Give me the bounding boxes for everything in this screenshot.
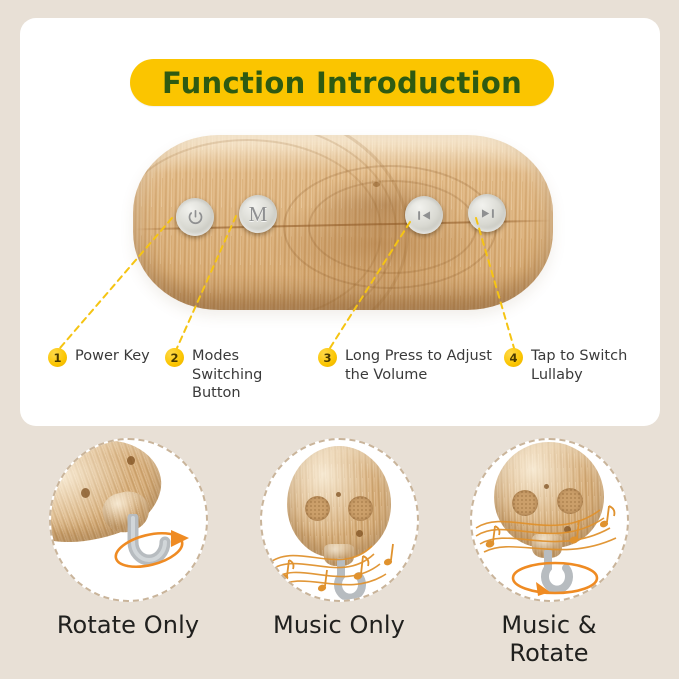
feature-caption: Music & Rotate bbox=[463, 611, 635, 667]
speaker-grille-right bbox=[348, 496, 373, 521]
next-track-icon bbox=[478, 204, 497, 223]
callout-number-badge: 4 bbox=[504, 348, 523, 367]
feature-caption: Rotate Only bbox=[42, 611, 214, 639]
callout-number-badge: 2 bbox=[165, 348, 184, 367]
previous-track-icon bbox=[415, 206, 434, 225]
feature-music-only: Music Only bbox=[253, 438, 425, 639]
music-notes-graphic bbox=[262, 520, 418, 598]
feature-caption: Music Only bbox=[253, 611, 425, 639]
callout-label: Tap to Switch Lullaby bbox=[531, 347, 634, 384]
screw-dot bbox=[81, 488, 90, 498]
callout-number-badge: 1 bbox=[48, 348, 67, 367]
mode-m-icon: M bbox=[249, 204, 268, 225]
previous-track-button[interactable] bbox=[405, 196, 443, 234]
feature-image-music-and-rotate bbox=[470, 438, 629, 602]
wood-grain-arc bbox=[308, 180, 477, 274]
screw-dot bbox=[127, 456, 135, 465]
feature-image-rotate-only bbox=[49, 438, 208, 602]
page-title-banner: Function Introduction bbox=[130, 59, 554, 106]
callout-label: Modes Switching Button bbox=[192, 347, 310, 403]
callout-label: Long Press to Adjust the Volume bbox=[345, 347, 498, 384]
callout-1: 1 Power Key bbox=[48, 347, 163, 367]
callout-label: Power Key bbox=[75, 347, 150, 366]
callout-4: 4 Tap to Switch Lullaby bbox=[504, 347, 634, 384]
speaker-grille-left bbox=[305, 496, 330, 521]
music-notes-graphic bbox=[470, 494, 629, 566]
callout-3: 3 Long Press to Adjust the Volume bbox=[318, 347, 498, 384]
power-button[interactable] bbox=[176, 198, 214, 236]
mode-button[interactable]: M bbox=[239, 195, 277, 233]
infographic-root: Function Introduction M bbox=[0, 0, 679, 679]
feature-rotate-only: Rotate Only bbox=[42, 438, 214, 639]
callout-number-badge: 3 bbox=[318, 348, 337, 367]
rotation-hook-graphic bbox=[109, 514, 201, 594]
screw-dot bbox=[544, 484, 549, 489]
callout-2: 2 Modes Switching Button bbox=[165, 347, 310, 403]
screw-dot bbox=[336, 492, 341, 497]
next-track-button[interactable] bbox=[468, 194, 506, 232]
feature-image-music-only bbox=[260, 438, 419, 602]
wood-knot bbox=[373, 182, 380, 187]
page-title: Function Introduction bbox=[162, 66, 522, 100]
device-illustration: M bbox=[133, 135, 553, 315]
feature-modes-row: Rotate Only bbox=[0, 438, 679, 668]
power-icon bbox=[186, 208, 205, 227]
feature-music-and-rotate: Music & Rotate bbox=[463, 438, 635, 667]
